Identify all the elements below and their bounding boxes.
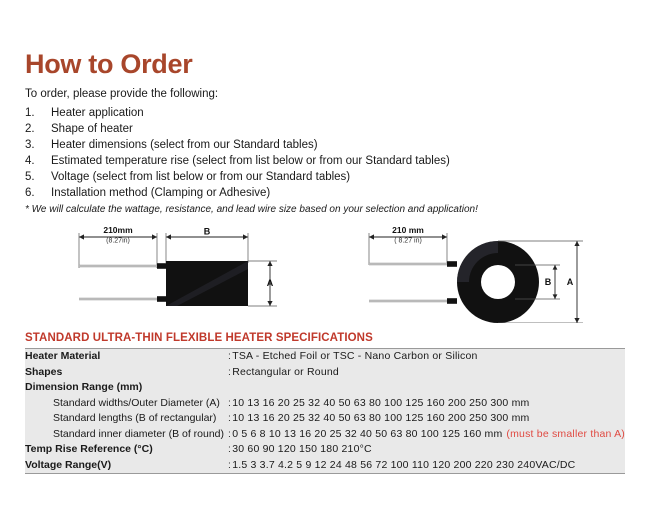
specifications-table: Heater Material : TSA - Etched Foil or T… (25, 348, 625, 474)
round-lead-length-inches-label: ( 8.27 in) (394, 238, 422, 245)
row-label: Shapes (25, 365, 228, 381)
row-value: 1.5 3 3.7 4.2 5 9 12 24 48 56 72 100 110… (232, 458, 625, 474)
list-item: 2. Shape of heater (25, 121, 625, 137)
row-value-text: 0 5 6 8 10 13 16 20 25 32 40 50 63 80 10… (232, 428, 502, 440)
footnote: * We will calculate the wattage, resista… (25, 204, 625, 215)
row-label: Temp Rise Reference (°C) (25, 442, 228, 458)
intro-text: To order, please provide the following: (25, 88, 625, 100)
rect-lead-length-inches-label: (8.27in) (106, 238, 130, 245)
table-row: Voltage Range(V) : 1.5 3 3.7 4.2 5 9 12 … (25, 458, 625, 474)
round-outer-diameter-label: A (567, 277, 574, 287)
row-value-warning: (must be smaller than A) (506, 428, 625, 440)
round-lead-length-label: 210 mm (392, 225, 424, 235)
page-title: How to Order (25, 0, 625, 78)
row-label: Dimension Range (mm) (25, 380, 228, 396)
table-row: Standard widths/Outer Diameter (A) : 10 … (25, 396, 625, 412)
row-value: 30 60 90 120 150 180 210°C (232, 442, 625, 458)
table-row: Dimension Range (mm) (25, 380, 625, 396)
list-item-label: Voltage (select from list below or from … (51, 169, 350, 185)
page-root: How to Order To order, please provide th… (0, 0, 650, 523)
list-item-label: Installation method (Clamping or Adhesiv… (51, 185, 270, 201)
row-label: Heater Material (25, 349, 228, 365)
list-item-number: 1. (25, 105, 51, 121)
list-item-number: 3. (25, 137, 51, 153)
list-item-number: 2. (25, 121, 51, 137)
table-row: Standard lengths (B of rectangular) : 10… (25, 411, 625, 427)
row-label: Standard lengths (B of rectangular) (25, 411, 228, 427)
list-item-label: Heater application (51, 105, 144, 121)
rectangular-heater-diagram: 210mm (8.27in) B (65, 223, 315, 323)
rect-lead-length-label: 210mm (103, 225, 133, 235)
list-item: 4. Estimated temperature rise (select fr… (25, 153, 625, 169)
rect-height-label: A (267, 278, 274, 288)
list-item: 5. Voltage (select from list below or fr… (25, 169, 625, 185)
row-label: Standard inner diameter (B of round) (25, 427, 228, 443)
row-value (232, 380, 625, 396)
list-item: 1. Heater application (25, 105, 625, 121)
list-item-label: Estimated temperature rise (select from … (51, 153, 450, 169)
list-item-number: 4. (25, 153, 51, 169)
list-item-number: 6. (25, 185, 51, 201)
list-item: 3. Heater dimensions (select from our St… (25, 137, 625, 153)
row-label: Voltage Range(V) (25, 458, 228, 474)
round-heater-diagram: 210 mm ( 8.27 in) (355, 223, 625, 323)
row-label: Standard widths/Outer Diameter (A) (25, 396, 228, 412)
round-inner-diameter-label: B (545, 277, 552, 287)
table-row: Heater Material : TSA - Etched Foil or T… (25, 349, 625, 365)
table-row: Standard inner diameter (B of round) : 0… (25, 427, 625, 443)
diagram-area: 210mm (8.27in) B (25, 223, 625, 328)
order-steps-list: 1. Heater application 2. Shape of heater… (25, 105, 625, 201)
row-value: Rectangular or Round (232, 365, 625, 381)
list-item-label: Shape of heater (51, 121, 133, 137)
list-item-label: Heater dimensions (select from our Stand… (51, 137, 318, 153)
list-item-number: 5. (25, 169, 51, 185)
row-value: 10 13 16 20 25 32 40 50 63 80 100 125 16… (232, 411, 625, 427)
list-item: 6. Installation method (Clamping or Adhe… (25, 185, 625, 201)
table-row: Shapes : Rectangular or Round (25, 365, 625, 381)
spec-section-title: STANDARD ULTRA-THIN FLEXIBLE HEATER SPEC… (25, 332, 625, 344)
table-row: Temp Rise Reference (°C) : 30 60 90 120 … (25, 442, 625, 458)
row-value: 0 5 6 8 10 13 16 20 25 32 40 50 63 80 10… (232, 427, 625, 443)
row-value: 10 13 16 20 25 32 40 50 63 80 100 125 16… (232, 396, 625, 412)
row-value: TSA - Etched Foil or TSC - Nano Carbon o… (232, 349, 625, 365)
rect-width-label: B (204, 227, 211, 237)
